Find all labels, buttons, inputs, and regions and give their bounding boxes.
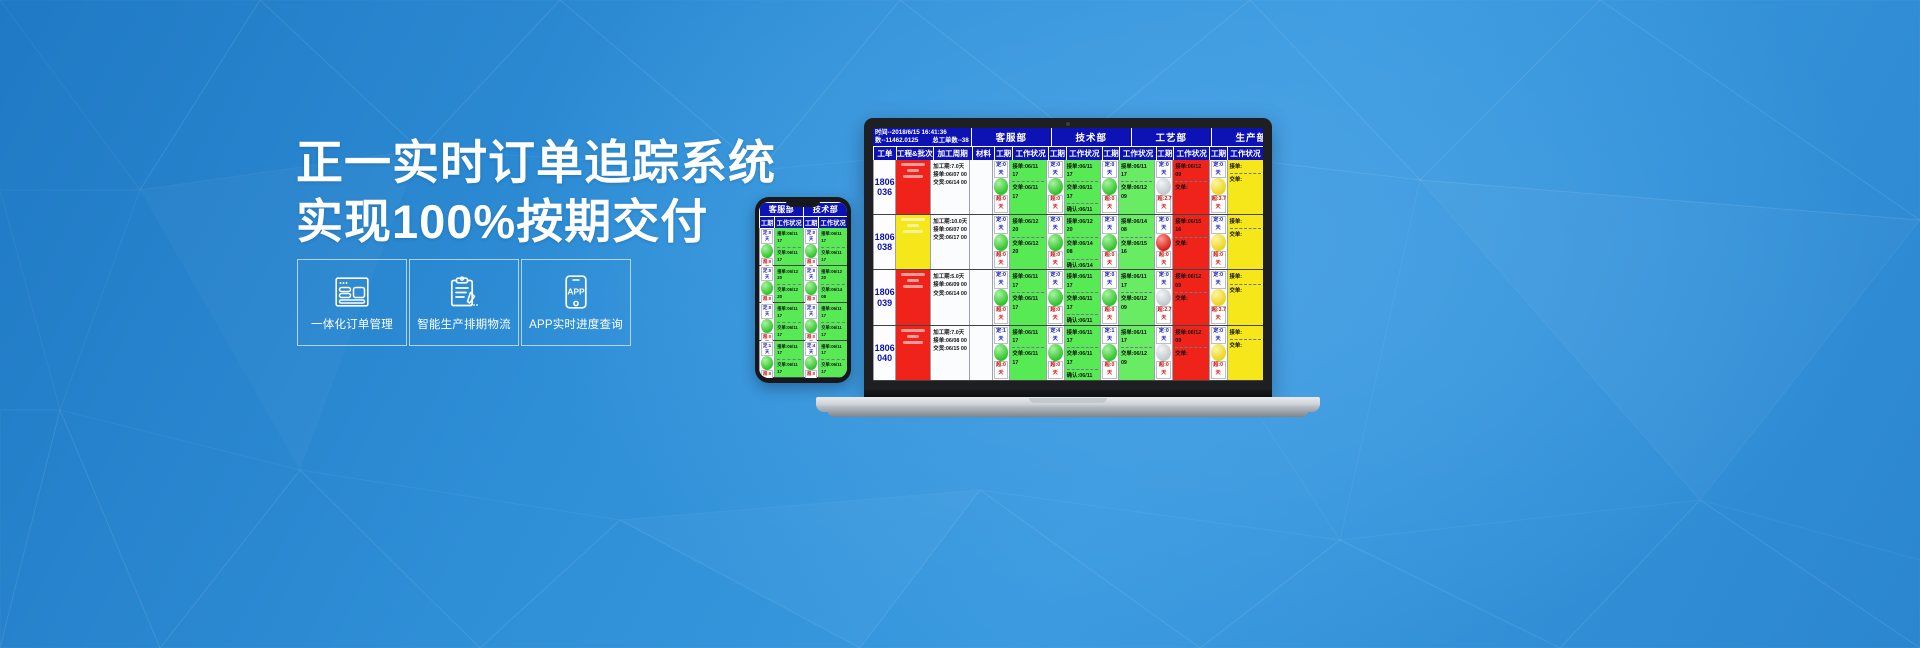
status-lamp-yellow (1211, 234, 1226, 251)
project-batch-cell (895, 215, 930, 269)
duration-cell-生产部[interactable]: 定:0天超:0天 (1154, 326, 1172, 380)
duration-cell-生产部[interactable]: 定:0天超:2.7天 (1154, 270, 1172, 324)
overdue-days-tag: 超:3.7天 (1211, 306, 1226, 324)
duration-cell-技术部[interactable]: 定:4天超:0天 (1046, 326, 1064, 380)
rest-days-tag: 定:0天 (761, 267, 773, 282)
status-lamp-green (761, 244, 773, 258)
project-batch-cell (895, 270, 930, 324)
table-row[interactable]: 1806036加工期:7.0天接单:06/07 00交货:06/14 00定:0… (873, 160, 1263, 215)
rest-days-tag: 定:0天 (1211, 161, 1226, 179)
feature-box-production-schedule[interactable]: 智能生产排期物流 (409, 259, 519, 346)
status-line: 接单:06/12 20 (1067, 218, 1099, 235)
status-lamp-green (1102, 234, 1117, 251)
status-lamp-green (1048, 289, 1063, 306)
column-header-生产部-工作状况: 工作状况 (1173, 147, 1209, 160)
column-header-跟单部-工作状况: 工作状况 (1227, 147, 1263, 160)
page-title-line1: 正一实时订单追踪系统 (296, 133, 856, 192)
status-lamp-green (761, 319, 773, 333)
status-lamp-yellow (1211, 289, 1226, 306)
duration-cell-工艺部[interactable]: 定:0天超:0天 (1100, 215, 1118, 269)
phone-column-header-客服部-工作状况: 工作状况 (774, 217, 803, 228)
table-row[interactable]: 1806038加工期:10.0天接单:06/07 00交货:06/17 00定:… (873, 215, 1263, 270)
status-lamp-green (994, 344, 1009, 361)
status-line: 交单: (1230, 342, 1262, 350)
status-line: 交单: (1175, 240, 1207, 248)
overdue-days-tag: 超:2.7天 (1156, 306, 1171, 324)
column-header-客服部-工期: 工期 (994, 147, 1012, 160)
status-lamp-gray (1156, 344, 1171, 361)
department-header-row: 客服部技术部工艺部生产部跟单部 (971, 128, 1263, 146)
work-status-cell-技术部[interactable]: 接单:06/11 17交单:06/11 17确认:06/11 17 (1064, 160, 1101, 214)
rest-days-tag: 定:1天 (994, 327, 1009, 345)
status-lamp-gray (1156, 178, 1171, 195)
status-line: 交单:06/11 17 (1012, 295, 1044, 312)
status-line: 交单:06/11 17 (1067, 184, 1099, 201)
department-header-4: 生产部 (1211, 128, 1263, 146)
material-cell (969, 326, 991, 380)
duration-cell-工艺部[interactable]: 定:1天超:0天 (1100, 326, 1118, 380)
table-row[interactable]: 1806040加工期:7.0天接单:06/08 00交货:06/15 00定:1… (873, 326, 1263, 381)
rest-days-tag: 定:0天 (994, 271, 1009, 289)
work-status-cell-跟单部[interactable]: 接单:交单: (1227, 215, 1264, 269)
status-lamp-red (1156, 234, 1171, 251)
phone-duration-cell-客服部[interactable]: 定:0天超:0天 (759, 303, 774, 340)
column-header-工程&批次: 工程&批次 (896, 147, 933, 160)
overdue-days-tag: 超:0天 (994, 195, 1009, 213)
order-number-cell: 1806036 (873, 160, 895, 214)
dashboard-value: 数--11462.0125 (875, 137, 918, 145)
laptop-trackpad-notch (1029, 398, 1107, 403)
duration-cell-技术部[interactable]: 定:0天超:0天 (1046, 270, 1064, 324)
duration-cell-跟单部[interactable]: 定:0天超:0天 (1209, 215, 1227, 269)
overdue-days-tag: 超:0天 (1048, 251, 1063, 269)
status-lamp-green (1048, 178, 1063, 195)
status-line: 交单: (1175, 350, 1207, 358)
rest-days-tag: 定:0天 (1102, 216, 1117, 234)
column-header-生产部-工期: 工期 (1156, 147, 1174, 160)
work-status-cell-生产部[interactable]: 接单:06/15 16交单: (1172, 215, 1209, 269)
status-lamp-green (761, 281, 773, 295)
phone-work-status-cell-客服部[interactable]: 接单:06/11 17交单:06/11 17 (774, 341, 803, 378)
phone-work-status-cell-客服部[interactable]: 接单:06/11 17交单:06/11 17 (774, 303, 803, 340)
status-line: 交单:06/12 09 (1121, 295, 1153, 312)
status-line: 接单:06/11 17 (777, 306, 801, 320)
column-header-材料: 材料 (972, 147, 995, 160)
status-lamp-green (994, 178, 1009, 195)
status-line: 接单:06/11 17 (1067, 329, 1099, 346)
project-batch-cell (895, 160, 930, 214)
duration-cell-客服部[interactable]: 定:0天超:0天 (992, 160, 1010, 214)
status-line: 交单:06/11 17 (777, 250, 801, 264)
duration-cell-跟单部[interactable]: 定:0天超:3.7天 (1209, 270, 1227, 324)
work-status-cell-工艺部[interactable]: 接单:06/14 08交单:06/15 16 (1118, 215, 1155, 269)
status-line: 接单: (1230, 218, 1262, 226)
status-line: 交单:06/15 16 (1121, 240, 1153, 257)
rest-days-tag: 定:0天 (1156, 327, 1171, 345)
rest-days-tag: 定:0天 (1048, 271, 1063, 289)
phone-work-status-cell-客服部[interactable]: 接单:06/11 17交单:06/11 17 (774, 228, 803, 265)
feature-label: 一体化订单管理 (311, 316, 393, 332)
material-cell (969, 215, 991, 269)
status-line: 接单:06/15 16 (1175, 218, 1207, 235)
duration-cell-跟单部[interactable]: 定:0天超:3.7天 (1209, 160, 1227, 214)
order-number-cell: 1806038 (873, 215, 895, 269)
processing-period-cell: 加工期:5.0天接单:06/09 00交货:06/14 00 (930, 270, 969, 324)
work-status-cell-跟单部[interactable]: 接单:交单: (1227, 270, 1264, 324)
status-lamp-green (1102, 344, 1117, 361)
phone-duration-cell-客服部[interactable]: 定:0天超:0天 (759, 266, 774, 303)
status-line: 接单:06/12 09 (1175, 329, 1207, 346)
status-line: 交单: (1175, 184, 1207, 192)
status-line: 接单:06/11 17 (777, 344, 801, 358)
status-line: 接单:06/11 17 (1012, 329, 1044, 346)
status-line: 接单:06/11 17 (1121, 329, 1153, 346)
overdue-days-tag: 超:0天 (1102, 251, 1117, 269)
status-line: 接单: (1230, 329, 1262, 337)
duration-cell-生产部[interactable]: 定:0天超:0天 (1154, 215, 1172, 269)
laptop-screen: 时间--2018/6/15 16:41:36 数--11462.0125 总工单… (873, 128, 1263, 381)
overdue-days-tag: 超:0天 (994, 251, 1009, 269)
work-status-cell-客服部[interactable]: 接单:06/11 17交单:06/11 17 (1009, 160, 1046, 214)
work-status-cell-生产部[interactable]: 接单:06/12 09交单: (1172, 326, 1209, 380)
material-cell (969, 160, 991, 214)
duration-cell-技术部[interactable]: 定:0天超:0天 (1046, 160, 1064, 214)
status-lamp-green (1048, 344, 1063, 361)
status-lamp-gray (1156, 289, 1171, 306)
status-line: 接单:06/11 17 (1067, 273, 1099, 290)
duration-cell-客服部[interactable]: 定:0天超:0天 (992, 215, 1010, 269)
phone-duration-cell-客服部[interactable]: 定:1天超:0天 (759, 341, 774, 378)
dashboard-info-block: 时间--2018/6/15 16:41:36 数--11462.0125 总工单… (873, 128, 971, 146)
feature-label: APP实时进度查询 (529, 316, 623, 332)
duration-cell-生产部[interactable]: 定:0天超:2.7天 (1154, 160, 1172, 214)
status-line: 接单:06/11 17 (1121, 273, 1153, 290)
work-status-cell-工艺部[interactable]: 接单:06/11 17交单:06/12 09 (1118, 160, 1155, 214)
hero-banner: 正一实时订单追踪系统 实现100%按期交付 一体化订单管理 (0, 0, 1920, 648)
rest-days-tag: 定:0天 (761, 304, 773, 319)
dashboard-total-orders: 总工单数--38 (932, 137, 968, 145)
status-lamp-green (1048, 234, 1063, 251)
work-status-cell-客服部[interactable]: 接单:06/11 17交单:06/11 17 (1009, 270, 1046, 324)
feature-box-app-query[interactable]: APP APP实时进度查询 (521, 259, 631, 346)
status-line: 交单:06/14 08 (1067, 240, 1099, 257)
dashboard-timestamp: 时间--2018/6/15 16:41:36 (875, 129, 969, 137)
status-lamp-yellow (1211, 344, 1226, 361)
rest-days-tag: 定:1天 (761, 342, 773, 357)
status-line: 接单:06/12 20 (1012, 218, 1044, 235)
rest-days-tag: 定:1天 (1102, 327, 1117, 345)
status-line: 交单: (1230, 231, 1262, 239)
column-header-跟单部-工期: 工期 (1209, 147, 1227, 160)
overdue-days-tag: 超:0天 (994, 306, 1009, 324)
work-status-cell-客服部[interactable]: 接单:06/11 17交单:06/11 17 (1009, 326, 1046, 380)
column-header-技术部-工作状况: 工作状况 (1066, 147, 1102, 160)
processing-period-cell: 加工期:10.0天接单:06/07 00交货:06/17 00 (930, 215, 969, 269)
overdue-days-tag: 超:3.7天 (1211, 195, 1226, 213)
table-row[interactable]: 1806039加工期:5.0天接单:06/09 00交货:06/14 00定:0… (873, 270, 1263, 325)
clipboard-schedule-icon (449, 273, 479, 311)
overdue-days-tag: 超:0天 (1211, 251, 1226, 269)
overdue-days-tag: 超:0天 (1156, 361, 1171, 379)
status-lamp-green (761, 356, 773, 370)
rest-days-tag: 定:0天 (1211, 327, 1226, 345)
column-header-工单: 工单 (873, 147, 896, 160)
rest-days-tag: 定:0天 (994, 216, 1009, 234)
phone-column-header-客服部-工期: 工期 (759, 217, 774, 228)
status-line: 接单:06/12 09 (1175, 163, 1207, 180)
duration-cell-跟单部[interactable]: 定:0天超:0天 (1209, 326, 1227, 380)
status-line: 交单:06/12 09 (1121, 184, 1153, 201)
column-header-加工周期: 加工周期 (933, 147, 972, 160)
work-status-cell-客服部[interactable]: 接单:06/12 20交单:06/12 20 (1009, 215, 1046, 269)
overdue-days-tag: 超:0天 (1048, 195, 1063, 213)
work-status-cell-跟单部[interactable]: 接单:交单: (1227, 326, 1264, 380)
project-batch-cell (895, 326, 930, 380)
status-line: 接单: (1230, 163, 1262, 171)
processing-period-cell: 加工期:7.0天接单:06/07 00交货:06/14 00 (930, 160, 969, 214)
rest-days-tag: 定:0天 (1211, 271, 1226, 289)
status-line: 交单: (1230, 176, 1262, 184)
status-line: 接单:06/11 17 (1067, 163, 1099, 180)
app-icon-text: APP (567, 286, 585, 296)
rest-days-tag: 定:0天 (1156, 161, 1171, 179)
status-line: 交单:06/11 17 (1067, 350, 1099, 367)
rest-days-tag: 定:0天 (1102, 271, 1117, 289)
order-number-cell: 1806039 (873, 270, 895, 324)
duration-cell-技术部[interactable]: 定:0天超:0天 (1046, 215, 1064, 269)
status-line: 交单:06/11 17 (1067, 295, 1099, 312)
rest-days-tag: 定:0天 (1211, 216, 1226, 234)
column-header-技术部-工期: 工期 (1048, 147, 1066, 160)
duration-cell-客服部[interactable]: 定:0天超:0天 (992, 270, 1010, 324)
column-header-工艺部-工期: 工期 (1102, 147, 1120, 160)
order-tracking-dashboard: 时间--2018/6/15 16:41:36 数--11462.0125 总工单… (873, 128, 1263, 381)
status-line: 交单:06/12 20 (1012, 240, 1044, 257)
status-lamp-green (1102, 289, 1117, 306)
overdue-days-tag: 超:0天 (1048, 306, 1063, 324)
work-status-cell-技术部[interactable]: 接单:06/11 17交单:06/11 17确认:06/11 17 (1064, 326, 1101, 380)
status-line: 接单:06/11 17 (1012, 273, 1044, 290)
work-status-cell-技术部[interactable]: 接单:06/11 17交单:06/11 17确认:06/11 17 (1064, 270, 1101, 324)
status-lamp-green (1102, 178, 1117, 195)
status-line: 接单:06/12 20 (777, 269, 801, 283)
status-line: 交单:06/11 17 (777, 362, 801, 376)
phone-duration-cell-客服部[interactable]: 定:0天超:0天 (759, 228, 774, 265)
overdue-days-tag: 超:0天 (1048, 361, 1063, 379)
status-line: 接单:06/12 09 (1175, 273, 1207, 290)
duration-cell-工艺部[interactable]: 定:0天超:0天 (1100, 270, 1118, 324)
overdue-days-tag: 超:0天 (1102, 361, 1117, 379)
status-line: 交单:06/12 09 (1121, 350, 1153, 367)
feature-label: 智能生产排期物流 (417, 316, 511, 332)
status-lamp-green (994, 289, 1009, 306)
work-status-cell-工艺部[interactable]: 接单:06/11 17交单:06/12 09 (1118, 270, 1155, 324)
dashboard-header-band: 时间--2018/6/15 16:41:36 数--11462.0125 总工单… (873, 128, 1263, 146)
column-header-row: 工单工程&批次加工周期材料工期工作状况工期工作状况工期工作状况工期工作状况工期工… (873, 146, 1263, 160)
laptop-mockup: 时间--2018/6/15 16:41:36 数--11462.0125 总工单… (816, 118, 1320, 418)
order-number-cell: 1806040 (873, 326, 895, 380)
work-status-cell-生产部[interactable]: 接单:06/12 09交单: (1172, 270, 1209, 324)
overdue-days-tag: 超:2.7天 (1156, 195, 1171, 213)
rest-days-tag: 定:0天 (994, 161, 1009, 179)
rest-days-tag: 定:0天 (1048, 216, 1063, 234)
duration-cell-工艺部[interactable]: 定:0天超:0天 (1100, 160, 1118, 214)
status-line: 交单:06/11 17 (1012, 184, 1044, 201)
work-status-cell-工艺部[interactable]: 接单:06/11 17交单:06/12 09 (1118, 326, 1155, 380)
overdue-days-tag: 超:0天 (1102, 195, 1117, 213)
overdue-days-tag: 超:0天 (994, 361, 1009, 379)
status-line: 交单:06/12 20 (777, 287, 801, 301)
dashboard-table-body[interactable]: 1806036加工期:7.0天接单:06/07 00交货:06/14 00定:0… (873, 160, 1263, 381)
status-line: 交单:06/11 17 (777, 325, 801, 339)
status-line: 交单: (1230, 287, 1262, 295)
status-lamp-green (994, 234, 1009, 251)
overdue-days-tag: 超:0天 (1211, 361, 1226, 379)
rest-days-tag: 定:0天 (1156, 216, 1171, 234)
phone-notch (786, 201, 820, 207)
overdue-days-tag: 超:0天 (1156, 251, 1171, 269)
rest-days-tag: 定:0天 (1048, 161, 1063, 179)
work-status-cell-生产部[interactable]: 接单:06/12 09交单: (1172, 160, 1209, 214)
mobile-app-icon: APP (563, 273, 589, 311)
laptop-lid: 时间--2018/6/15 16:41:36 数--11462.0125 总工单… (864, 118, 1272, 394)
department-header-3: 工艺部 (1131, 128, 1211, 146)
department-header-1: 客服部 (971, 128, 1051, 146)
status-line: 接单:06/11 17 (1121, 163, 1153, 180)
laptop-foot (828, 412, 1308, 417)
overdue-days-tag: 超:0天 (1102, 306, 1117, 324)
status-line: 确认:06/11 17 (1067, 372, 1099, 381)
status-lamp-yellow (1211, 178, 1226, 195)
work-status-cell-技术部[interactable]: 接单:06/12 20交单:06/14 08确认:06/14 08 (1064, 215, 1101, 269)
overdue-days-tag: 超:0天 (761, 370, 773, 378)
dashboard-layout-icon (335, 273, 369, 311)
processing-period-cell: 加工期:7.0天接单:06/08 00交货:06/15 00 (930, 326, 969, 380)
feature-box-list: 一体化订单管理 智能生产排期物流 (297, 259, 631, 346)
status-line: 接单:06/11 17 (1012, 163, 1044, 180)
material-cell (969, 270, 991, 324)
rest-days-tag: 定:0天 (1102, 161, 1117, 179)
department-header-2: 技术部 (1051, 128, 1131, 146)
column-header-客服部-工作状况: 工作状况 (1012, 147, 1048, 160)
rest-days-tag: 定:4天 (1048, 327, 1063, 345)
status-line: 交单: (1175, 295, 1207, 303)
status-line: 接单: (1230, 273, 1262, 281)
duration-cell-客服部[interactable]: 定:1天超:0天 (992, 326, 1010, 380)
status-line: 交单:06/11 17 (1012, 350, 1044, 367)
status-line: 接单:06/14 08 (1121, 218, 1153, 235)
phone-work-status-cell-客服部[interactable]: 接单:06/12 20交单:06/12 20 (774, 266, 803, 303)
work-status-cell-跟单部[interactable]: 接单:交单: (1227, 160, 1264, 214)
status-line: 接单:06/11 17 (777, 231, 801, 245)
rest-days-tag: 定:0天 (1156, 271, 1171, 289)
rest-days-tag: 定:0天 (761, 229, 773, 244)
column-header-工艺部-工作状况: 工作状况 (1119, 147, 1155, 160)
feature-box-order-management[interactable]: 一体化订单管理 (297, 259, 407, 346)
